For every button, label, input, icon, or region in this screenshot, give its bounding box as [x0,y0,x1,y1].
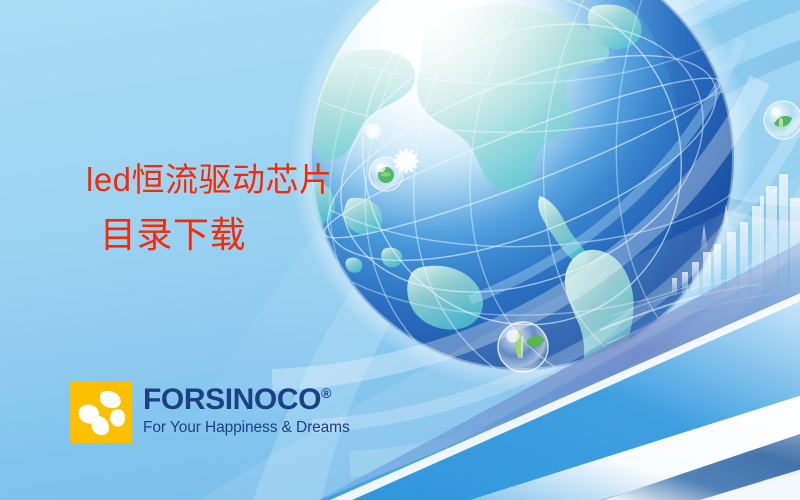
logo-tagline: For Your Happiness & Dreams [143,420,350,436]
logo-wordmark-text: FORSINOCO [143,383,321,416]
headline-line-1: led恒流驱动芯片 [86,163,416,196]
headline-block: led恒流驱动芯片 目录下载 [86,163,416,253]
logo-wordmark: FORSINOCO® [143,385,350,415]
logo-text-block: FORSINOCO® For Your Happiness & Dreams [143,381,350,436]
four-petal-pinwheel-icon [70,381,132,443]
company-logo[interactable]: FORSINOCO® For Your Happiness & Dreams [70,381,350,443]
poster-canvas: led恒流驱动芯片 目录下载 FORSINOCO® For Your Happi… [0,0,800,500]
bubble-green-leaf-center [498,322,548,372]
registered-trademark-icon: ® [321,385,331,401]
headline-line-2: 目录下载 [100,217,416,253]
bubble-green-globe-right [764,101,800,139]
